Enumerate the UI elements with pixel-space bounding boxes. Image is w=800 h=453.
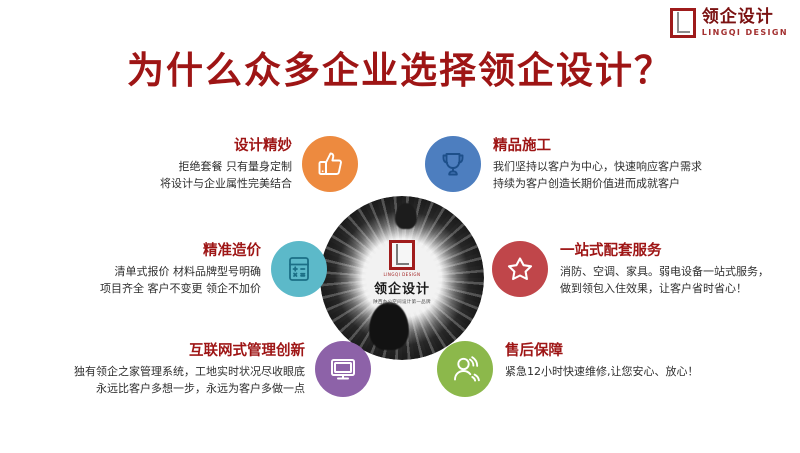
center-logo-tagline: 陕西办公空间设计第一品牌 (373, 299, 431, 305)
feature-line: 紧急12小时快速维修,让您安心、放心！ (505, 363, 699, 380)
feature-title: 精准造价 (100, 242, 261, 260)
brand-wordmark: 领企设计 LINGQI DESIGN (702, 9, 788, 37)
feature-title: 设计精妙 (160, 137, 292, 155)
thumbs-up-icon (302, 136, 358, 192)
feature-item-cost[interactable]: 精准造价 清单式报价 材料品牌型号明确 项目齐全 客户不变更 领企不加价 (100, 241, 327, 297)
feature-line: 清单式报价 材料品牌型号明确 (100, 263, 261, 280)
feature-text-service: 售后保障 紧急12小时快速维修,让您安心、放心！ (505, 341, 699, 380)
feature-line: 做到领包入住效果，让客户省时省心！ (560, 280, 769, 297)
slide-canvas: 领企设计 LINGQI DESIGN 为什么众多企业选择领企设计？ LINGQI… (0, 0, 800, 453)
brand-name-cn: 领企设计 (702, 9, 788, 26)
feature-title: 精品施工 (493, 137, 702, 155)
feature-text-cost: 精准造价 清单式报价 材料品牌型号明确 项目齐全 客户不变更 领企不加价 (100, 241, 261, 297)
feature-text-build: 精品施工 我们坚持以客户为中心，快速响应客户需求 持续为客户创造长期价值进而成就… (493, 136, 702, 192)
feature-line: 项目齐全 客户不变更 领企不加价 (100, 280, 261, 297)
feature-item-design[interactable]: 设计精妙 拒绝套餐 只有量身定制 将设计与企业属性完美结合 (160, 136, 358, 192)
feature-title: 售后保障 (505, 342, 699, 360)
trophy-icon (425, 136, 481, 192)
feature-text-design: 设计精妙 拒绝套餐 只有量身定制 将设计与企业属性完美结合 (160, 136, 292, 192)
feature-item-onestop[interactable]: 一站式配套服务 消防、空调、家具。弱电设备一站式服务， 做到领包入住效果，让客户… (492, 241, 769, 297)
customer-service-icon (437, 341, 493, 397)
monitor-icon (315, 341, 371, 397)
feature-line: 持续为客户创造长期价值进而成就客户 (493, 175, 702, 192)
center-logo: LINGQI DESIGN 领企设计 陕西办公空间设计第一品牌 (320, 240, 484, 305)
star-icon (492, 241, 548, 297)
brand-name-en: LINGQI DESIGN (702, 29, 788, 37)
feature-title: 互联网式管理创新 (74, 342, 305, 360)
feature-title: 一站式配套服务 (560, 242, 769, 260)
feature-item-build[interactable]: 精品施工 我们坚持以客户为中心，快速响应客户需求 持续为客户创造长期价值进而成就… (425, 136, 702, 192)
feature-item-service[interactable]: 售后保障 紧急12小时快速维修,让您安心、放心！ (437, 341, 699, 397)
feature-line: 将设计与企业属性完美结合 (160, 175, 292, 192)
feature-line: 拒绝套餐 只有量身定制 (160, 158, 292, 175)
lingqi-logo-icon (389, 240, 415, 270)
center-circle-photo: LINGQI DESIGN 领企设计 陕西办公空间设计第一品牌 (320, 196, 484, 360)
center-logo-cn: 领企设计 (374, 278, 430, 297)
feature-line: 永远比客户多想一步，永远为客户多做一点 (74, 380, 305, 397)
brand-logo: 领企设计 LINGQI DESIGN (670, 8, 788, 38)
page-title: 为什么众多企业选择领企设计？ (0, 40, 800, 94)
feature-text-internet: 互联网式管理创新 独有领企之家管理系统，工地实时状况尽收眼底 永远比客户多想一步… (74, 341, 305, 397)
feature-item-internet[interactable]: 互联网式管理创新 独有领企之家管理系统，工地实时状况尽收眼底 永远比客户多想一步… (74, 341, 371, 397)
center-logo-en: LINGQI DESIGN (383, 272, 420, 277)
calculator-icon (271, 241, 327, 297)
feature-line: 我们坚持以客户为中心，快速响应客户需求 (493, 158, 702, 175)
feature-text-onestop: 一站式配套服务 消防、空调、家具。弱电设备一站式服务， 做到领包入住效果，让客户… (560, 241, 769, 297)
feature-line: 独有领企之家管理系统，工地实时状况尽收眼底 (74, 363, 305, 380)
lingqi-logo-icon (670, 8, 696, 38)
feature-line: 消防、空调、家具。弱电设备一站式服务， (560, 263, 769, 280)
